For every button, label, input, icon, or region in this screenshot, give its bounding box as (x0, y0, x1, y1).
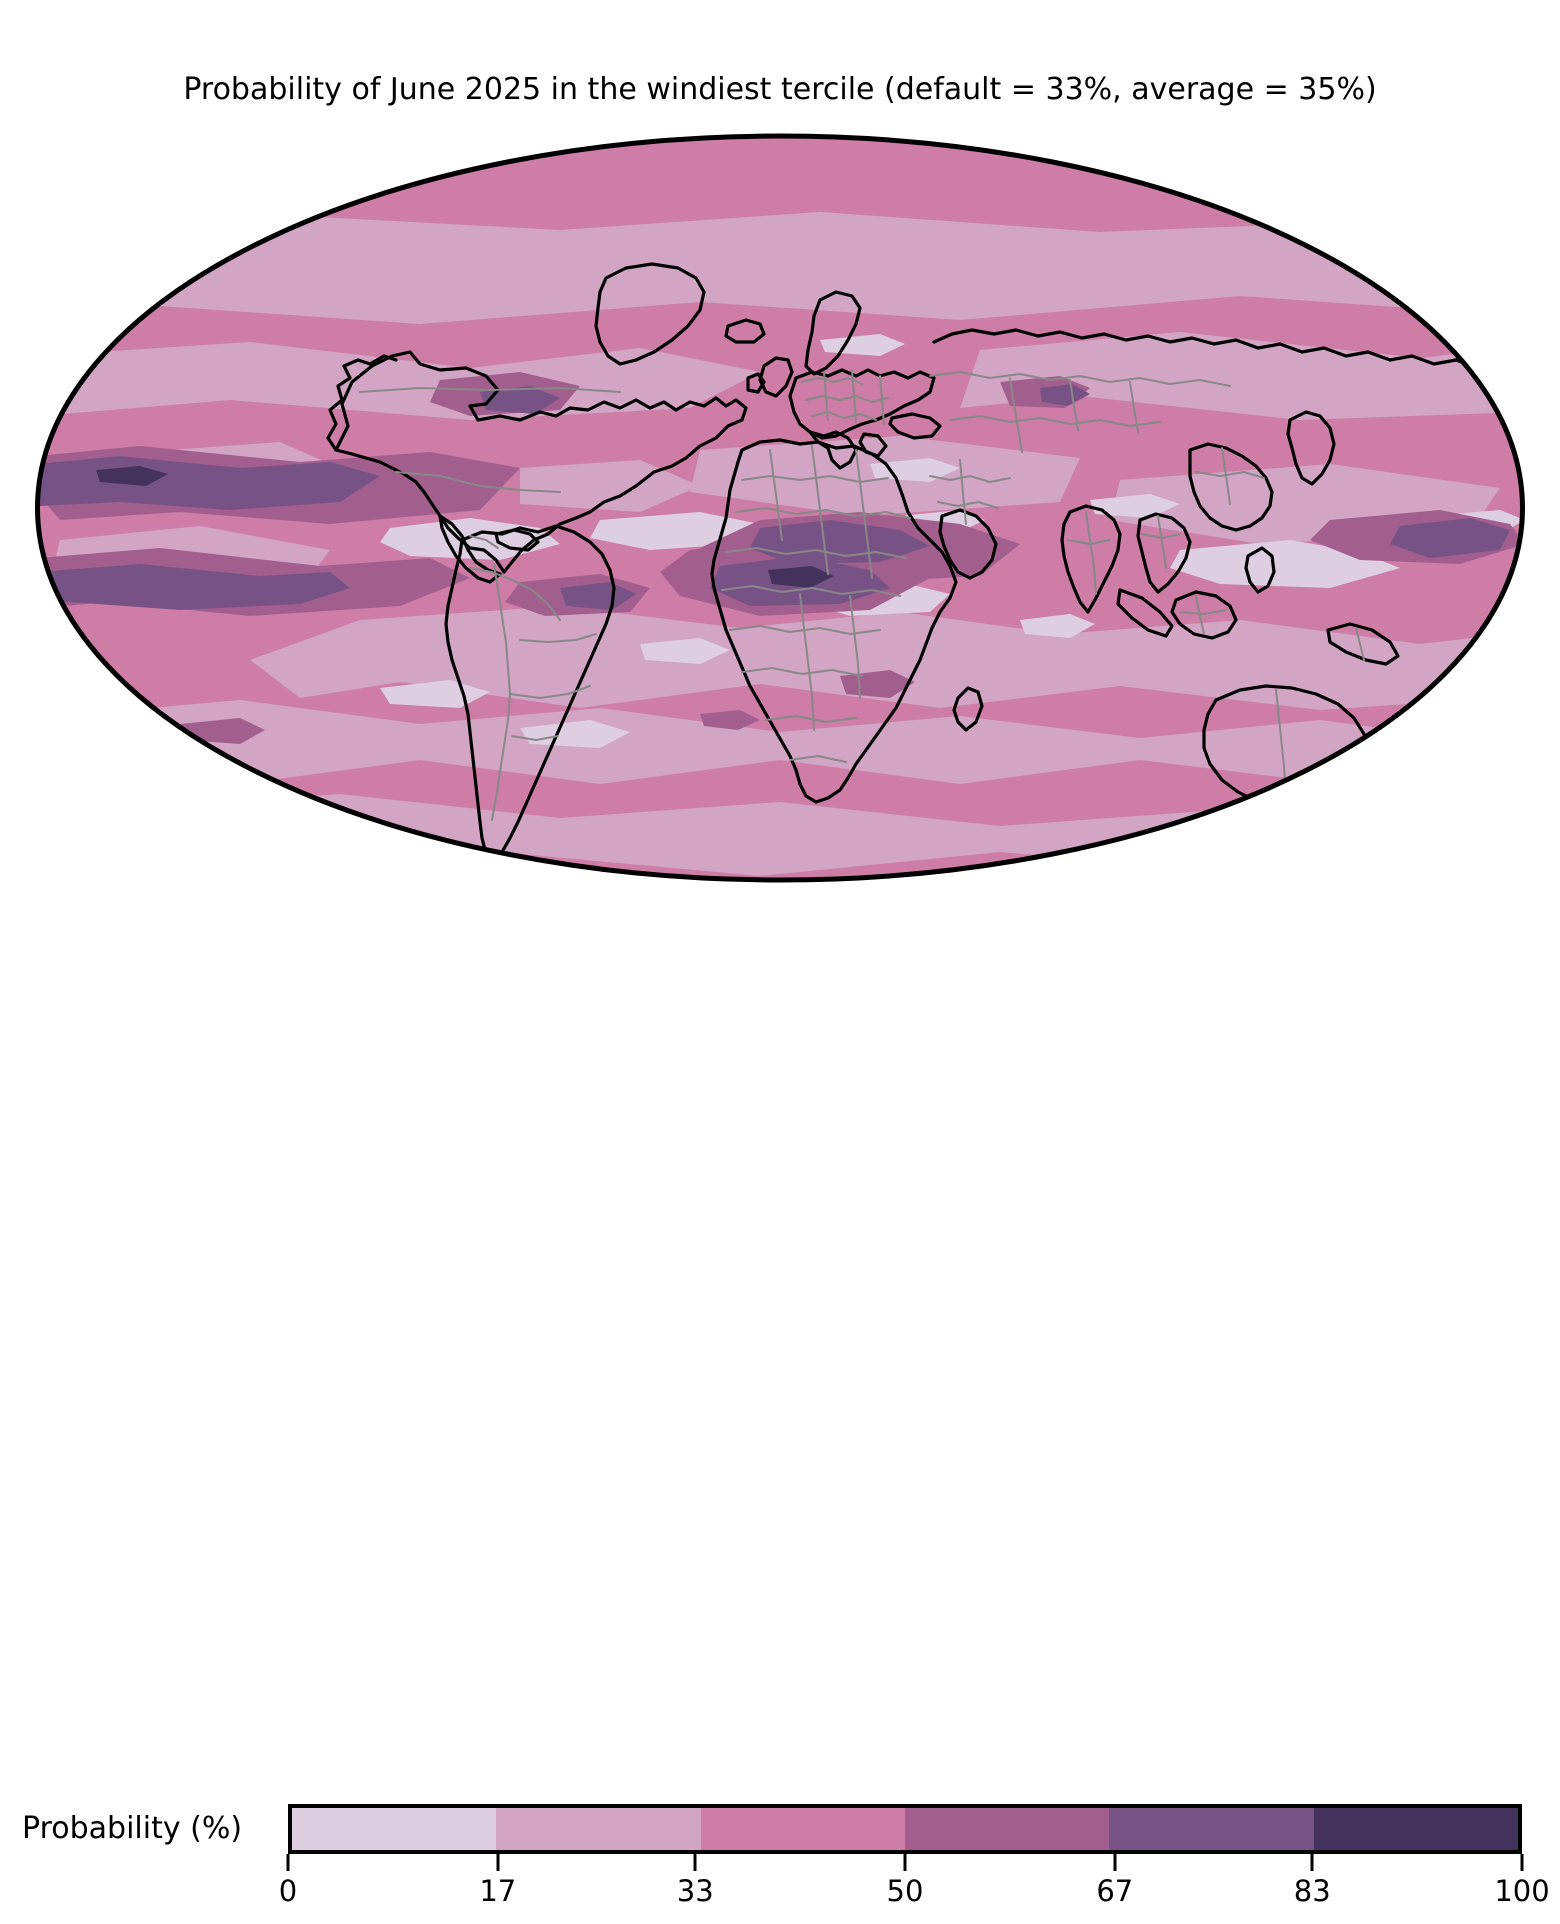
colorbar-segment-0 (292, 1808, 496, 1850)
colorbar-tick-label-17: 17 (479, 1874, 516, 1908)
colorbar-gradient (288, 1804, 1522, 1854)
colorbar-tick-0 (287, 1854, 290, 1871)
colorbar-tick-100 (1521, 1854, 1524, 1871)
colorbar-tick-67 (1113, 1854, 1116, 1871)
colorbar-tick-83 (1311, 1854, 1314, 1871)
colorbar-axis: 01733506783100 (288, 1854, 1522, 1924)
probability-field (0, 120, 1560, 896)
colorbar-segment-3 (905, 1808, 1109, 1850)
colorbar-tick-label-83: 83 (1294, 1874, 1331, 1908)
map-svg (0, 120, 1560, 896)
world-map (0, 120, 1560, 896)
colorbar-tick-label-33: 33 (677, 1874, 714, 1908)
colorbar-tick-label-100: 100 (1494, 1874, 1549, 1908)
colorbar-segment-2 (701, 1808, 905, 1850)
colorbar-tick-label-67: 67 (1096, 1874, 1133, 1908)
colorbar-tick-17 (496, 1854, 499, 1871)
colorbar-label: Probability (%) (22, 1811, 280, 1847)
colorbar-tick-50 (904, 1854, 907, 1871)
colorbar-tick-label-50: 50 (887, 1874, 924, 1908)
colorbar-segment-1 (496, 1808, 700, 1850)
colorbar-tick-label-0: 0 (279, 1874, 297, 1908)
colorbar-tick-33 (694, 1854, 697, 1871)
page-title: Probability of June 2025 in the windiest… (0, 72, 1560, 107)
figure-canvas: Probability of June 2025 in the windiest… (0, 0, 1560, 1031)
colorbar-segment-4 (1109, 1808, 1313, 1850)
colorbar-segment-5 (1314, 1808, 1518, 1850)
colorbar: Probability (%) 01733506783100 (0, 896, 1560, 1031)
